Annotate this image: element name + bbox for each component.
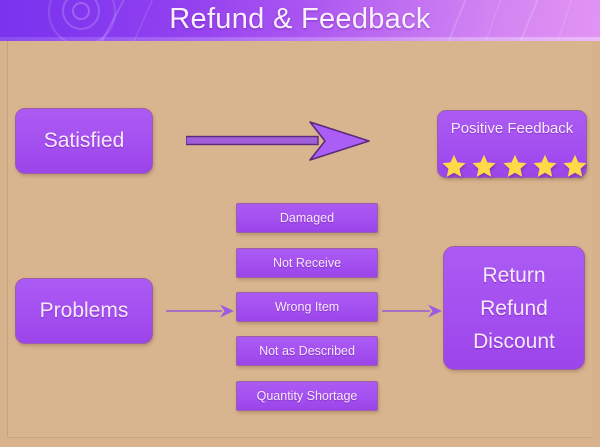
node-satisfied[interactable]: Satisfied: [15, 108, 153, 174]
arrow-problems-to-list: [166, 301, 234, 321]
title-banner: Refund & Feedback: [0, 0, 600, 41]
big-arrow-head: [310, 122, 369, 160]
node-outcomes[interactable]: Return Refund Discount: [443, 246, 585, 370]
arrow-list-to-outcome: [382, 301, 442, 321]
problem-item-label: Not Receive: [273, 256, 341, 270]
outcome-return: Return: [482, 265, 545, 286]
slide-content-panel: [8, 40, 592, 437]
big-block-arrow: [186, 119, 370, 163]
problem-item-label: Quantity Shortage: [257, 389, 358, 403]
page-title: Refund & Feedback: [0, 0, 600, 41]
slide-canvas: Refund & Feedback Satisfied Positive Fee…: [0, 0, 600, 447]
outcome-refund: Refund: [480, 298, 548, 319]
problem-item-label: Not as Described: [259, 344, 355, 358]
node-positive-feedback[interactable]: Positive Feedback: [437, 110, 587, 178]
node-satisfied-label: Satisfied: [44, 129, 125, 153]
big-arrow-shaft: [186, 137, 318, 145]
node-problems-label: Problems: [40, 299, 129, 323]
node-problems[interactable]: Problems: [15, 278, 153, 344]
problem-item-label: Damaged: [280, 211, 334, 225]
outcome-discount: Discount: [473, 331, 555, 352]
problem-item-not-as-described[interactable]: Not as Described: [236, 336, 378, 366]
problem-item-wrong-item[interactable]: Wrong Item: [236, 292, 378, 322]
problem-item-label: Wrong Item: [275, 300, 339, 314]
problem-item-not-receive[interactable]: Not Receive: [236, 248, 378, 278]
node-positive-feedback-label: Positive Feedback: [451, 120, 574, 137]
problem-item-quantity-shortage[interactable]: Quantity Shortage: [236, 381, 378, 411]
problem-item-damaged[interactable]: Damaged: [236, 203, 378, 233]
